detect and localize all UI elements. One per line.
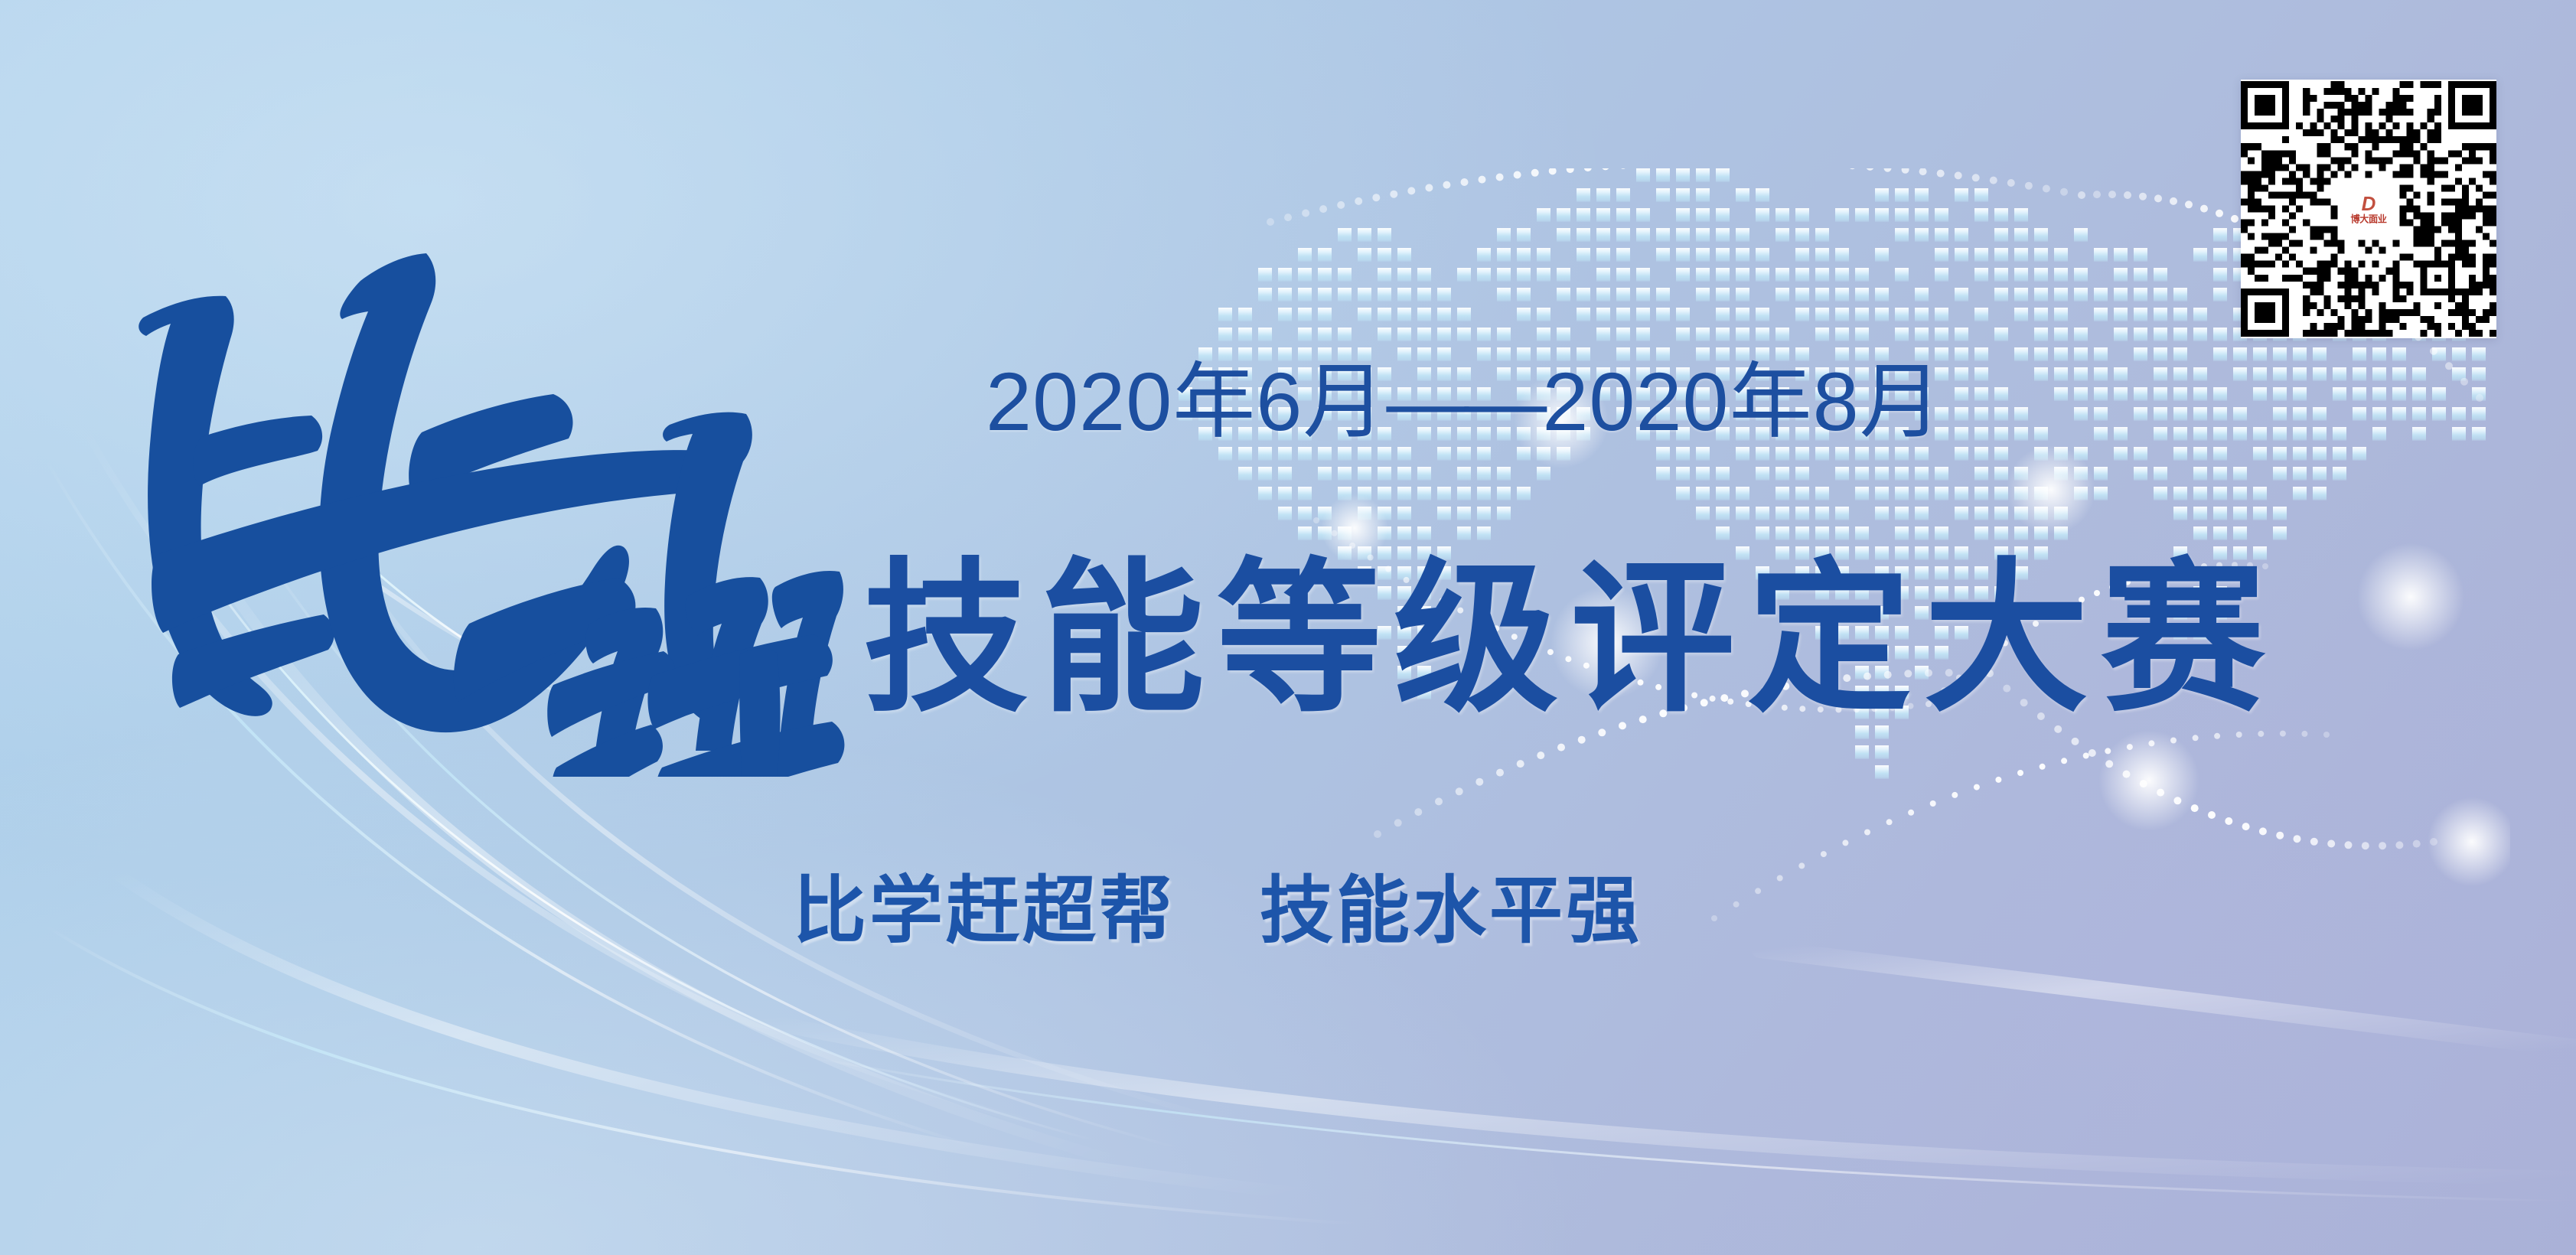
tagline-left: 比学赶超帮 xyxy=(793,870,1176,952)
tagline-right: 技能水平强 xyxy=(1260,870,1642,952)
poster-canvas: 2020年6月——2020年8月 技能等级评定大赛 比学赶超帮技能水平强 D 博… xyxy=(0,0,2576,1255)
event-date-range: 2020年6月——2020年8月 xyxy=(986,335,1943,455)
background-sheen-bottom-left xyxy=(0,702,1597,1255)
qr-center-logo: D 博大面业 xyxy=(2341,181,2396,236)
page-title: 技能等级评定大赛 xyxy=(863,505,2278,743)
date-end: 2020年8月 xyxy=(1542,355,1942,448)
qr-code[interactable]: D 博大面业 xyxy=(2241,80,2496,338)
qr-logo-brand: 博大面业 xyxy=(2350,214,2386,223)
qr-logo-mark: D xyxy=(2362,194,2376,214)
date-start: 2020年6月 xyxy=(986,355,1386,448)
date-separator: —— xyxy=(1386,355,1542,448)
calligraphy-bipin xyxy=(134,195,846,777)
tagline: 比学赶超帮技能水平强 xyxy=(793,851,1642,957)
